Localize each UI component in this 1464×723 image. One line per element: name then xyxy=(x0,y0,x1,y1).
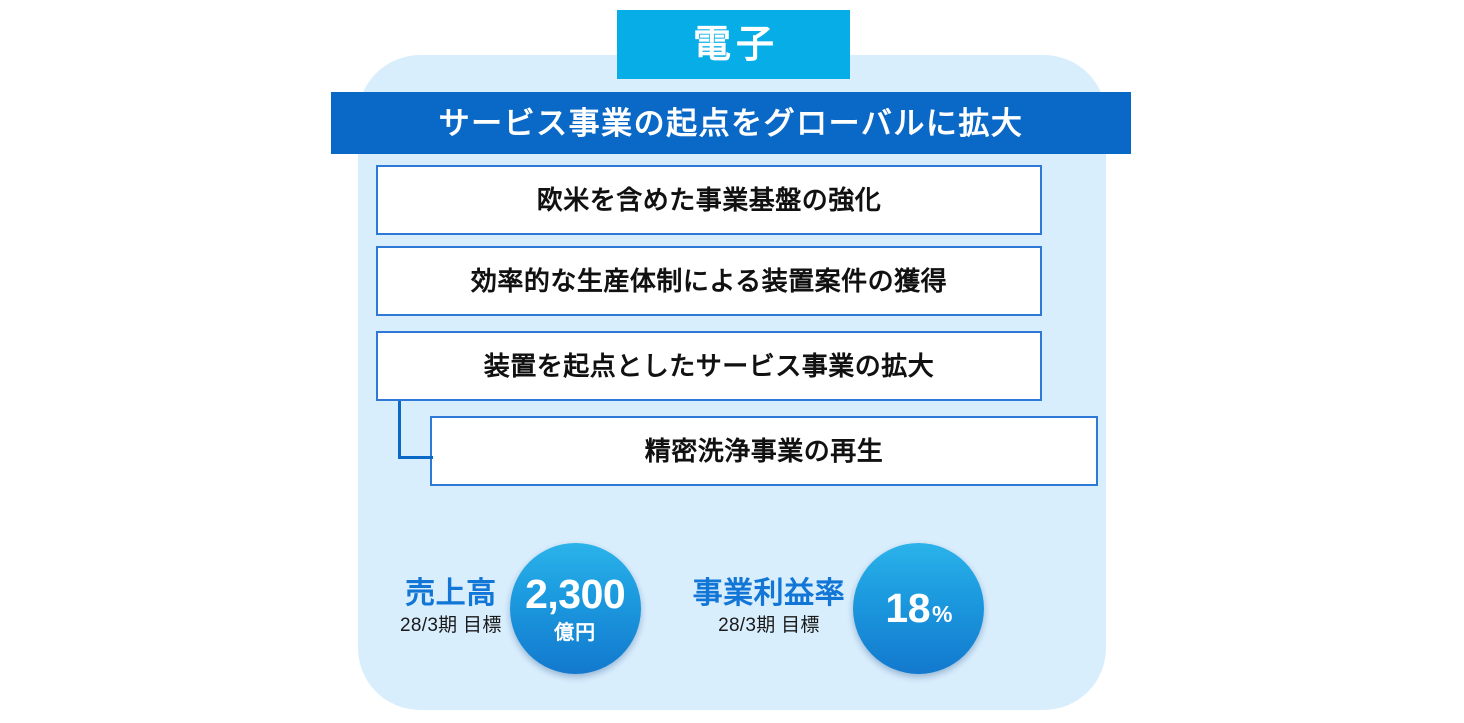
panel-header-title: サービス事業の起点をグローバルに拡大 xyxy=(439,108,1024,139)
segment-tab-electronics[interactable]: 電子 xyxy=(617,10,850,79)
kpi-sales-title: 売上高 xyxy=(400,577,502,612)
strategy-box-3-label: 装置を起点としたサービス事業の拡大 xyxy=(484,353,935,379)
kpi-sales: 売上高 28/3期 目標 2,300 億円 xyxy=(400,543,641,674)
strategy-box-4[interactable]: 精密洗浄事業の再生 xyxy=(430,416,1098,486)
strategy-box-4-label: 精密洗浄事業の再生 xyxy=(645,438,884,464)
kpi-operating-margin: 事業利益率 28/3期 目標 18 % xyxy=(693,543,985,674)
kpi-operating-margin-value: 18 xyxy=(885,588,930,629)
kpi-operating-margin-title: 事業利益率 xyxy=(693,577,846,612)
kpi-operating-margin-unit: % xyxy=(932,603,952,626)
kpi-sales-period: 28/3期 目標 xyxy=(400,614,502,639)
kpi-operating-margin-value-row: 18 % xyxy=(885,588,952,629)
kpi-row: 売上高 28/3期 目標 2,300 億円 事業利益率 28/3期 目標 18 … xyxy=(400,528,1080,688)
kpi-sales-value: 2,300 xyxy=(525,574,625,615)
panel-header-bar: サービス事業の起点をグローバルに拡大 xyxy=(331,92,1131,154)
slide-canvas: 電子 サービス事業の起点をグローバルに拡大 欧米を含めた事業基盤の強化 効率的な… xyxy=(0,0,1464,723)
kpi-sales-text: 売上高 28/3期 目標 xyxy=(400,577,502,638)
strategy-box-1-label: 欧米を含めた事業基盤の強化 xyxy=(537,187,882,213)
strategy-box-2-label: 効率的な生産体制による装置案件の獲得 xyxy=(471,268,947,294)
segment-tab-label: 電子 xyxy=(688,26,779,64)
kpi-sales-value-row: 2,300 xyxy=(525,574,625,615)
kpi-operating-margin-text: 事業利益率 28/3期 目標 xyxy=(693,577,846,638)
connector-elbow-vertical xyxy=(398,401,401,459)
kpi-sales-unit: 億円 xyxy=(554,623,596,643)
connector-elbow-horizontal xyxy=(398,456,433,459)
kpi-sales-bubble: 2,300 億円 xyxy=(510,543,641,674)
strategy-box-3[interactable]: 装置を起点としたサービス事業の拡大 xyxy=(376,331,1042,401)
strategy-box-1[interactable]: 欧米を含めた事業基盤の強化 xyxy=(376,165,1042,235)
kpi-operating-margin-period: 28/3期 目標 xyxy=(693,614,846,639)
strategy-box-2[interactable]: 効率的な生産体制による装置案件の獲得 xyxy=(376,246,1042,316)
kpi-operating-margin-bubble: 18 % xyxy=(853,543,984,674)
